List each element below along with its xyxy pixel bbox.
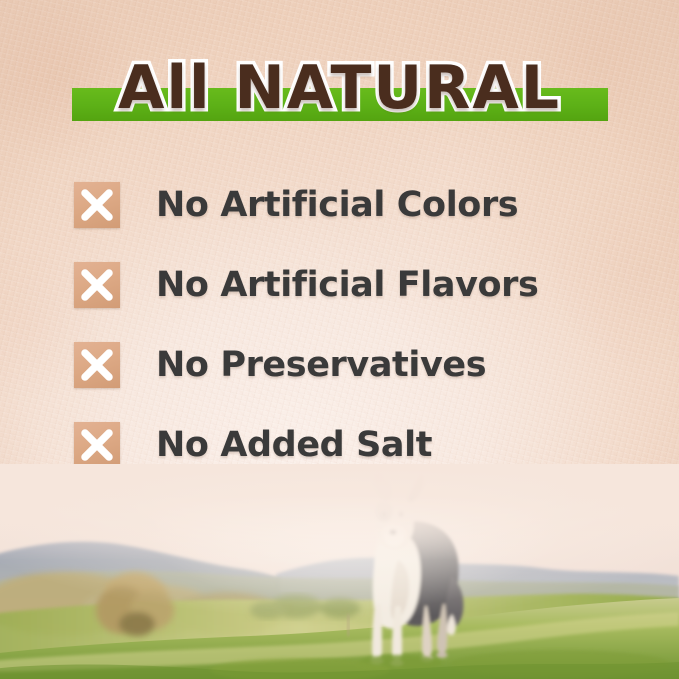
claim-label: No Artificial Flavors (156, 258, 538, 312)
x-mark-icon (74, 422, 120, 468)
claim-label: No Preservatives (156, 338, 486, 392)
headline-text: All NATURAL (0, 52, 679, 124)
x-mark-icon (74, 262, 120, 308)
claims-list: No Artificial Colors No Artificial Flavo… (74, 178, 614, 498)
x-mark-icon (74, 342, 120, 388)
claim-row: No Artificial Flavors (74, 258, 614, 338)
claim-row: No Artificial Colors (74, 178, 614, 258)
landscape-dog-photo (0, 464, 679, 679)
headline: All NATURAL (0, 52, 679, 124)
x-mark-icon (74, 182, 120, 228)
claim-row: No Preservatives (74, 338, 614, 418)
claim-label: No Artificial Colors (156, 178, 518, 232)
all-natural-poster: All NATURAL No Artificial Colors (0, 0, 679, 679)
